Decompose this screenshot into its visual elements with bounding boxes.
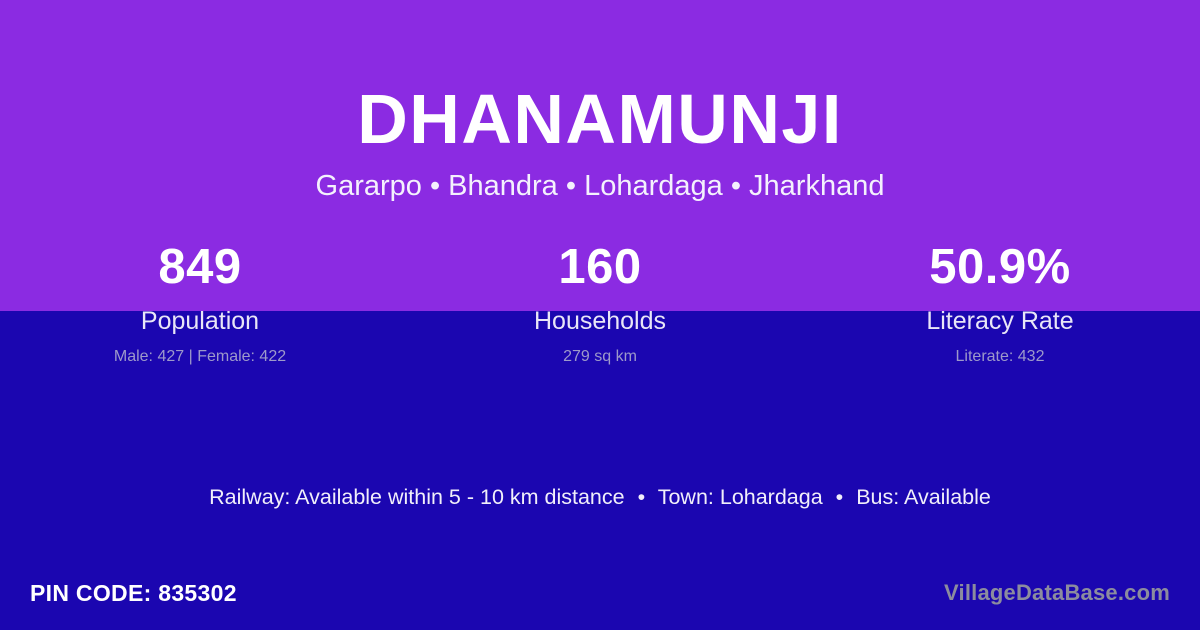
infra-separator-2: • xyxy=(829,487,851,509)
infra-bus: Bus: Available xyxy=(856,485,991,509)
stat-households-value: 160 xyxy=(400,243,800,295)
stat-households-detail: 279 sq km xyxy=(400,349,800,365)
infra-railway: Railway: Available within 5 - 10 km dist… xyxy=(209,485,624,509)
stat-literacy-detail: Literate: 432 xyxy=(800,349,1200,365)
infrastructure-row: Railway: Available within 5 - 10 km dist… xyxy=(0,487,1200,509)
stat-households: 160 Households 279 sq km xyxy=(400,243,800,365)
stat-population-value: 849 xyxy=(0,243,400,295)
stat-literacy-label: Literacy Rate xyxy=(800,309,1200,334)
breadcrumb: Gararpo • Bhandra • Lohardaga • Jharkhan… xyxy=(0,154,1200,201)
page-title: DHANAMUNJI xyxy=(0,0,1200,154)
stat-population: 849 Population Male: 427 | Female: 422 xyxy=(0,243,400,365)
infra-town: Town: Lohardaga xyxy=(658,485,823,509)
card-header: DHANAMUNJI Gararpo • Bhandra • Lohardaga… xyxy=(0,0,1200,201)
pin-code-label: PIN CODE: 835302 xyxy=(30,582,237,605)
stat-literacy: 50.9% Literacy Rate Literate: 432 xyxy=(800,243,1200,365)
village-info-card: DHANAMUNJI Gararpo • Bhandra • Lohardaga… xyxy=(0,0,1200,630)
stat-households-label: Households xyxy=(400,309,800,334)
brand-watermark: VillageDataBase.com xyxy=(944,582,1170,604)
stat-literacy-value: 50.9% xyxy=(800,243,1200,295)
stat-population-detail: Male: 427 | Female: 422 xyxy=(0,349,400,365)
card-footer: PIN CODE: 835302 VillageDataBase.com xyxy=(0,576,1200,610)
stat-population-label: Population xyxy=(0,309,400,334)
stats-row: 849 Population Male: 427 | Female: 422 1… xyxy=(0,243,1200,365)
infra-separator-1: • xyxy=(631,487,653,509)
